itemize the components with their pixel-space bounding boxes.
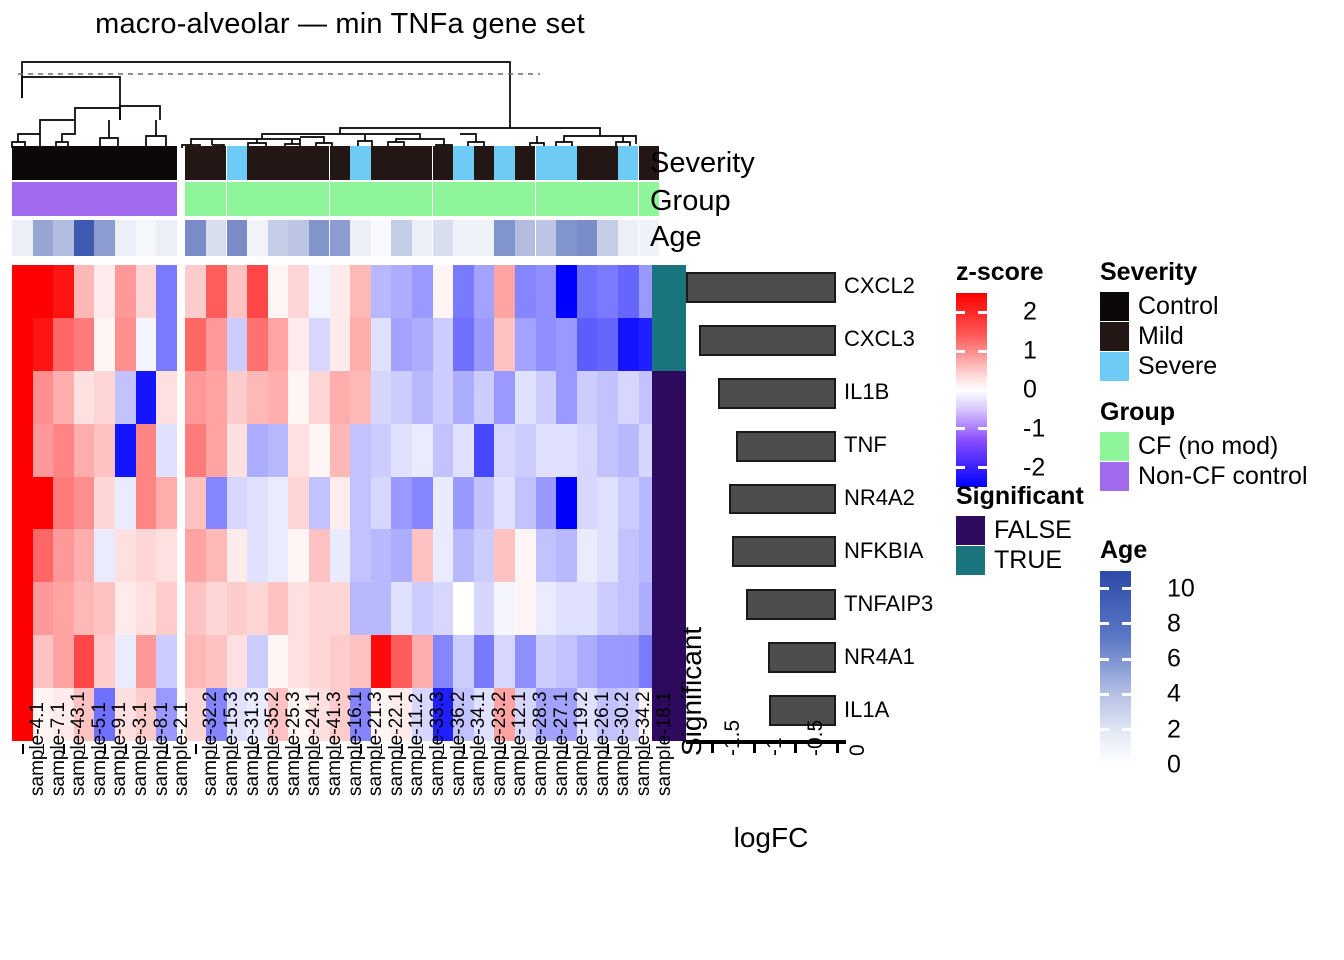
group-cell: [618, 182, 639, 216]
significant-legend-item[interactable]: TRUE: [956, 546, 1084, 575]
heatmap-cell: [94, 477, 115, 530]
heatmap-cell: [268, 635, 289, 688]
heatmap-cell: [185, 477, 206, 530]
heatmap-cell: [453, 582, 474, 635]
heatmap-cell: [597, 424, 618, 477]
group-legend-label: CF (no mod): [1138, 432, 1278, 461]
heatmap-cell: [94, 529, 115, 582]
bar-axis-tick-label: -1.5: [701, 756, 731, 816]
colorbar-tick-label: 10: [1167, 574, 1195, 603]
colorbar-tick: [978, 427, 987, 430]
sample-tick: [340, 744, 342, 754]
heatmap-cell: [597, 635, 618, 688]
heatmap-cell: [515, 582, 536, 635]
heatmap-cell: [156, 424, 177, 477]
age-cell: [185, 220, 206, 256]
heatmap-cell: [53, 371, 74, 424]
heatmap-cell: [53, 477, 74, 530]
heatmap-cell: [597, 371, 618, 424]
heatmap-cell: [185, 318, 206, 371]
group-cell: [412, 182, 433, 216]
heatmap-cell: [391, 635, 412, 688]
age-cell: [33, 220, 54, 256]
significant-legend-title: Significant: [956, 482, 1084, 511]
gene-label: CXCL3: [844, 326, 915, 352]
heatmap-cell: [12, 265, 33, 318]
sample-tick: [401, 744, 403, 754]
significant-segment: [652, 424, 686, 477]
colorbar-tick: [978, 350, 987, 353]
heatmap-cell: [371, 424, 392, 477]
heatmap-cell: [53, 424, 74, 477]
heatmap-cell: [53, 635, 74, 688]
group-cell: [33, 182, 54, 216]
age-cell: [53, 220, 74, 256]
heatmap-cell: [453, 477, 474, 530]
heatmap-cell: [597, 582, 618, 635]
group-annotation-label: Group: [650, 184, 731, 218]
heatmap-cell: [350, 582, 371, 635]
sample-label: sample-28.3: [515, 744, 536, 954]
heatmap-cell: [330, 477, 351, 530]
severity-cell: [185, 146, 206, 180]
heatmap-cell: [136, 318, 157, 371]
heatmap-cell: [618, 318, 639, 371]
heatmap-cell: [115, 265, 136, 318]
heatmap-cell: [115, 477, 136, 530]
heatmap-cell: [227, 424, 248, 477]
heatmap-cell: [433, 424, 454, 477]
heatmap-cell: [391, 582, 412, 635]
group-legend-item[interactable]: Non-CF control: [1100, 462, 1308, 491]
heatmap-cell: [618, 529, 639, 582]
heatmap-cell: [330, 582, 351, 635]
severity-legend-item[interactable]: Control: [1100, 292, 1219, 321]
colorbar-tick-label: -1: [1023, 414, 1045, 443]
gene-label: NFKBIA: [844, 538, 923, 564]
sample-tick: [463, 744, 465, 754]
heatmap-cell: [136, 635, 157, 688]
heatmap-cell: [94, 635, 115, 688]
heatmap-cell: [74, 424, 95, 477]
heatmap-cell: [156, 265, 177, 318]
heatmap-cell: [453, 424, 474, 477]
heatmap-cell: [206, 529, 227, 582]
heatmap-cell: [309, 635, 330, 688]
severity-cell: [206, 146, 227, 180]
group-legend-swatch: [1100, 462, 1129, 491]
heatmap-cell: [412, 318, 433, 371]
severity-cell: [115, 146, 136, 180]
group-cell: [597, 182, 618, 216]
severity-cell: [247, 146, 268, 180]
significant-legend-swatch: [956, 546, 985, 575]
heatmap-cell: [136, 529, 157, 582]
heatmap-cell: [12, 477, 33, 530]
severity-cell: [536, 146, 557, 180]
group-cell: [12, 182, 33, 216]
age-cell: [227, 220, 248, 256]
heatmap-cell: [309, 529, 330, 582]
heatmap-cell: [268, 265, 289, 318]
severity-legend-item[interactable]: Severe: [1100, 352, 1219, 381]
age-cell: [206, 220, 227, 256]
heatmap-cell: [206, 582, 227, 635]
sample-label: sample-31.3: [227, 744, 248, 954]
sample-label: sample-16.1: [330, 744, 351, 954]
heatmap-cell: [350, 477, 371, 530]
heatmap-cell: [371, 477, 392, 530]
heatmap-cell: [185, 635, 206, 688]
heatmap-cell: [185, 424, 206, 477]
heatmap-cell: [515, 635, 536, 688]
sample-tick: [257, 744, 259, 754]
heatmap-cell: [536, 529, 557, 582]
sample-label: sample-23.2: [474, 744, 495, 954]
group-cell: [391, 182, 412, 216]
heatmap-cell: [288, 582, 309, 635]
sample-tick: [319, 744, 321, 754]
group-legend-swatch: [1100, 432, 1129, 461]
significant-segment: [652, 318, 686, 371]
group-cell: [536, 182, 557, 216]
heatmap-cell: [618, 582, 639, 635]
group-cell: [515, 182, 536, 216]
severity-cell: [494, 146, 515, 180]
severity-legend-item[interactable]: Mild: [1100, 322, 1219, 351]
heatmap-cell: [391, 371, 412, 424]
heatmap-cell: [515, 265, 536, 318]
heatmap-cell: [156, 635, 177, 688]
colorbar-tick: [1122, 622, 1131, 625]
severity-cell: [309, 146, 330, 180]
sample-tick: [360, 744, 362, 754]
heatmap-cell: [227, 318, 248, 371]
heatmap-cell: [330, 635, 351, 688]
significant-legend-label: TRUE: [994, 546, 1062, 575]
sample-tick: [104, 744, 106, 754]
heatmap-cell: [618, 635, 639, 688]
heatmap-cell: [474, 477, 495, 530]
heatmap-cell: [577, 371, 598, 424]
group-legend-label: Non-CF control: [1138, 462, 1308, 491]
heatmap-cell: [412, 424, 433, 477]
age-cell: [412, 220, 433, 256]
age-cell: [618, 220, 639, 256]
logfc-bar: [736, 431, 836, 462]
heatmap-cell: [227, 635, 248, 688]
bar-axis-tick-text: 0: [846, 744, 870, 756]
sample-label: sample-18.1: [639, 744, 660, 954]
heatmap-cell: [12, 424, 33, 477]
gene-label: TNFAIP3: [844, 591, 933, 617]
sample-label: sample-4.1: [12, 744, 33, 954]
significant-segment: [652, 477, 686, 530]
heatmap-cell: [494, 424, 515, 477]
sample-label: sample-2.1: [156, 744, 177, 954]
sample-tick: [84, 744, 86, 754]
logfc-bar: [732, 536, 836, 567]
heatmap-cell: [474, 424, 495, 477]
group-cell: [94, 182, 115, 216]
colorbar-tick: [978, 311, 987, 314]
heatmap-cell: [268, 318, 289, 371]
page-title: macro-alveolar — min TNFa gene set: [0, 8, 680, 41]
heatmap-cell: [247, 371, 268, 424]
sample-tick: [22, 744, 24, 754]
heatmap-cell: [288, 318, 309, 371]
heatmap-cell: [33, 318, 54, 371]
heatmap-cell: [371, 582, 392, 635]
heatmap-cell: [247, 318, 268, 371]
heatmap-cell: [536, 318, 557, 371]
sample-label: sample-33.3: [412, 744, 433, 954]
heatmap-cell: [33, 635, 54, 688]
age-cell: [391, 220, 412, 256]
heatmap-cell: [33, 529, 54, 582]
colorbar-tick: [1122, 658, 1131, 661]
heatmap-cell: [494, 371, 515, 424]
heatmap-cell: [577, 318, 598, 371]
colorbar-tick-label: 0: [1167, 751, 1181, 780]
heatmap-cell: [268, 529, 289, 582]
age-legend: Age 1086420: [1100, 536, 1191, 765]
heatmap-cell: [597, 477, 618, 530]
sample-label: sample-34.1: [453, 744, 474, 954]
heatmap-cell: [515, 371, 536, 424]
age-cell: [330, 220, 351, 256]
column-dendrogram: [0, 46, 660, 148]
heatmap-cell: [53, 265, 74, 318]
gene-label: NR4A2: [844, 485, 915, 511]
colorbar-tick: [1100, 728, 1109, 731]
sample-tick: [278, 744, 280, 754]
severity-cell: [474, 146, 495, 180]
heatmap-cell: [206, 477, 227, 530]
heatmap-cell: [515, 477, 536, 530]
sample-tick: [125, 744, 127, 754]
age-annotation-row: [12, 220, 650, 256]
heatmap-cell: [577, 424, 598, 477]
colorbar-tick: [1122, 764, 1131, 767]
sample-label: sample-5.1: [74, 744, 95, 954]
colorbar-tick: [1122, 693, 1131, 696]
heatmap-cell: [309, 477, 330, 530]
severity-cell: [577, 146, 598, 180]
significant-segment: [652, 371, 686, 424]
heatmap-cell: [288, 371, 309, 424]
heatmap-cell: [577, 265, 598, 318]
sample-label: sample-41.3: [309, 744, 330, 954]
heatmap-cell: [33, 424, 54, 477]
heatmap-cell: [453, 371, 474, 424]
sample-label: sample-30.2: [597, 744, 618, 954]
bar-axis-tick: [836, 740, 839, 753]
group-cell: [247, 182, 268, 216]
severity-legend-swatch: [1100, 322, 1129, 351]
sample-tick: [298, 744, 300, 754]
heatmap-cell: [391, 318, 412, 371]
colorbar-tick: [1122, 728, 1131, 731]
heatmap-cell: [206, 424, 227, 477]
logfc-bar: [699, 325, 837, 356]
significant-segment: [652, 529, 686, 582]
group-legend: Group CF (no mod)Non-CF control: [1100, 398, 1308, 492]
heatmap-cell: [12, 635, 33, 688]
severity-cell: [412, 146, 433, 180]
logfc-bar: [686, 272, 836, 303]
colorbar-tick: [978, 389, 987, 392]
heatmap-cell: [247, 582, 268, 635]
age-cell: [309, 220, 330, 256]
heatmap-cell: [74, 318, 95, 371]
heatmap-cell: [515, 424, 536, 477]
heatmap-cell: [474, 582, 495, 635]
heatmap-cell: [577, 635, 598, 688]
heatmap-cell: [115, 635, 136, 688]
heatmap-cell: [156, 529, 177, 582]
colorbar-tick: [956, 466, 965, 469]
significant-legend-label: FALSE: [994, 516, 1072, 545]
sample-tick: [43, 744, 45, 754]
severity-cell: [53, 146, 74, 180]
heatmap-cell: [371, 265, 392, 318]
heatmap-cell: [309, 582, 330, 635]
age-legend-title: Age: [1100, 536, 1191, 565]
gene-label: CXCL2: [844, 273, 915, 299]
heatmap-cell: [53, 529, 74, 582]
heatmap-cell: [474, 371, 495, 424]
severity-cell: [33, 146, 54, 180]
significant-legend-swatch: [956, 516, 985, 545]
bar-axis-tick: [711, 740, 714, 753]
heatmap-cell: [494, 635, 515, 688]
heatmap-cell: [556, 265, 577, 318]
group-legend-title: Group: [1100, 398, 1308, 427]
group-cell: [115, 182, 136, 216]
sample-label-text: sample-18.1: [654, 691, 676, 796]
group-cell: [74, 182, 95, 216]
severity-cell: [556, 146, 577, 180]
heatmap-cell: [494, 582, 515, 635]
group-cell: [185, 182, 206, 216]
heatmap-cell: [474, 265, 495, 318]
heatmap-cell: [74, 529, 95, 582]
heatmap-cell: [494, 477, 515, 530]
heatmap-cell: [597, 318, 618, 371]
heatmap-cell: [412, 635, 433, 688]
sample-labels: sample-4.1sample-7.1sample-43.1sample-5.…: [0, 744, 660, 959]
heatmap-cell: [74, 582, 95, 635]
severity-cell: [391, 146, 412, 180]
sample-tick: [216, 744, 218, 754]
heatmap-cell: [515, 529, 536, 582]
heatmap-cell: [185, 371, 206, 424]
heatmap-cell: [350, 265, 371, 318]
heatmap-cell: [136, 371, 157, 424]
sample-tick: [443, 744, 445, 754]
sample-tick: [166, 744, 168, 754]
heatmap-cell: [412, 477, 433, 530]
heatmap-cell: [288, 424, 309, 477]
severity-cell: [12, 146, 33, 180]
heatmap-cell: [474, 529, 495, 582]
age-cell: [74, 220, 95, 256]
age-cell: [597, 220, 618, 256]
severity-legend-label: Control: [1138, 292, 1219, 321]
significant-legend: Significant FALSETRUE: [956, 482, 1084, 576]
heatmap-cell: [350, 529, 371, 582]
heatmap-cell: [412, 529, 433, 582]
group-cell: [156, 182, 177, 216]
colorbar-tick-label: 0: [1023, 376, 1037, 405]
severity-cell: [330, 146, 351, 180]
heatmap-cell: [371, 635, 392, 688]
heatmap-cell: [453, 635, 474, 688]
bar-axis-tick-label: -1: [743, 756, 773, 816]
heatmap-cell: [268, 477, 289, 530]
severity-annotation-label: Severity: [650, 146, 755, 180]
heatmap-cell: [156, 582, 177, 635]
heatmap-cell: [74, 371, 95, 424]
group-cell: [136, 182, 157, 216]
group-cell: [556, 182, 577, 216]
colorbar-tick-label: 6: [1167, 645, 1181, 674]
severity-legend-swatch: [1100, 292, 1129, 321]
gene-label: IL1B: [844, 379, 889, 405]
heatmap-cell: [536, 582, 557, 635]
colorbar-tick: [956, 389, 965, 392]
severity-legend-label: Mild: [1138, 322, 1184, 351]
severity-cell: [227, 146, 248, 180]
bar-axis-tick-label: 0: [826, 756, 856, 816]
logfc-bar-chart: logFC CXCL2CXCL3IL1BTNFNR4A2NFKBIATNFAIP…: [686, 262, 946, 762]
heatmap-cell: [12, 318, 33, 371]
heatmap-cell: [350, 318, 371, 371]
heatmap-cell: [185, 529, 206, 582]
significant-legend-item[interactable]: FALSE: [956, 516, 1084, 545]
colorbar-tick-label: 2: [1023, 298, 1037, 327]
sample-tick: [607, 744, 609, 754]
severity-cell: [74, 146, 95, 180]
heatmap-cell: [391, 424, 412, 477]
heatmap-cell: [391, 477, 412, 530]
colorbar-tick: [956, 350, 965, 353]
colorbar-tick: [1100, 587, 1109, 590]
heatmap-cell: [288, 477, 309, 530]
sample-label: sample-22.1: [371, 744, 392, 954]
sample-label: sample-19.2: [556, 744, 577, 954]
group-cell: [371, 182, 392, 216]
heatmap-grid: [12, 265, 650, 741]
heatmap-cell: [330, 318, 351, 371]
heatmap-cell: [371, 318, 392, 371]
age-cell: [12, 220, 33, 256]
group-legend-item[interactable]: CF (no mod): [1100, 432, 1308, 461]
age-cell: [515, 220, 536, 256]
heatmap-cell: [288, 265, 309, 318]
sample-tick: [649, 744, 651, 754]
bar-axis-tick-text: -1: [763, 737, 787, 756]
heatmap-cell: [515, 318, 536, 371]
colorbar-tick: [978, 466, 987, 469]
gene-label: NR4A1: [844, 644, 915, 670]
sample-tick: [484, 744, 486, 754]
sample-label: sample-34.2: [618, 744, 639, 954]
sample-label: sample-26.1: [577, 744, 598, 954]
heatmap-cell: [556, 371, 577, 424]
heatmap-cell: [288, 529, 309, 582]
